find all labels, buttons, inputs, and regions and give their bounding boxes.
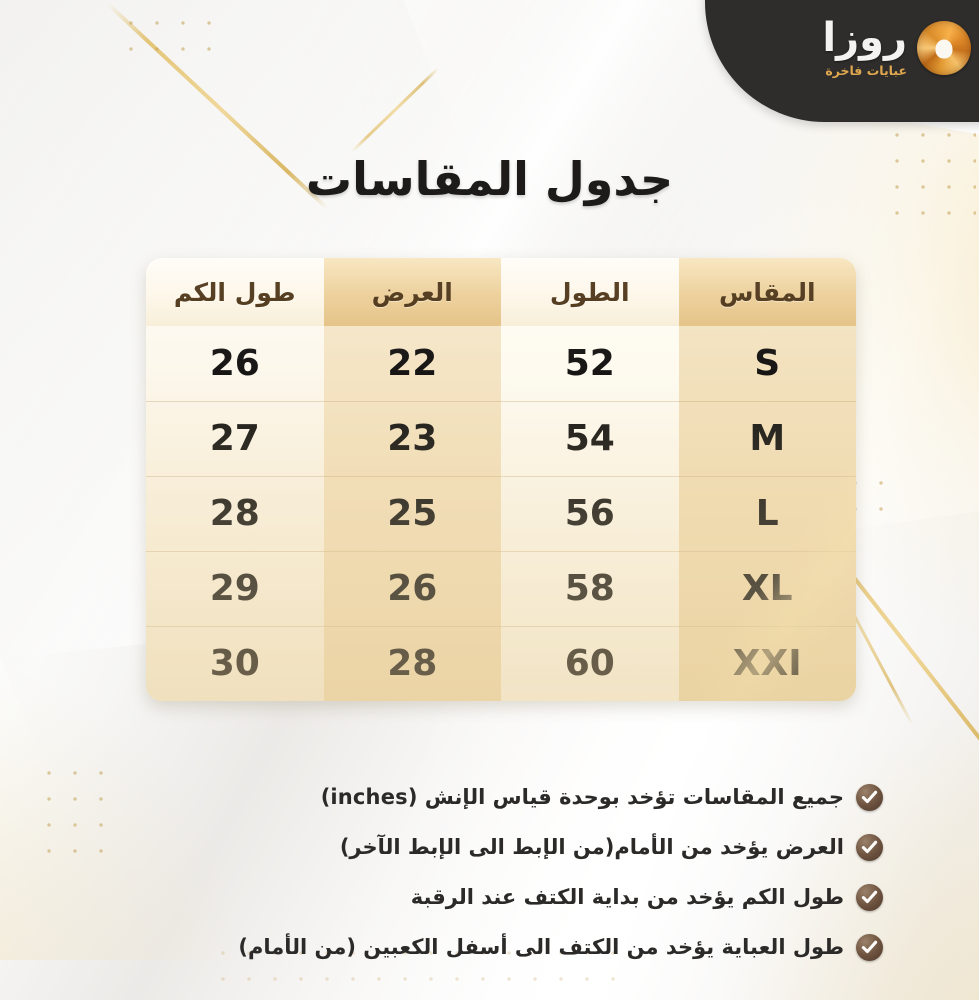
note-text: طول الكم يؤخد من بداية الكتف عند الرقبة — [411, 885, 844, 909]
column-header-sleeve: طول الكم — [146, 258, 324, 326]
cell-width: 28 — [324, 626, 502, 701]
cell-length: 56 — [501, 476, 679, 551]
cell-size: L — [679, 476, 857, 551]
cell-size: XXI — [679, 626, 857, 701]
column-header-width: العرض — [324, 258, 502, 326]
cell-length: 60 — [501, 626, 679, 701]
cell-length: 58 — [501, 551, 679, 626]
cell-sleeve: 26 — [146, 326, 324, 401]
cell-length: 54 — [501, 401, 679, 476]
cell-width: 22 — [324, 326, 502, 401]
cell-width: 26 — [324, 551, 502, 626]
table-row: M 54 23 27 — [146, 401, 856, 476]
note-item: العرض يؤخد من الأمام(من الإبط الى الإبط … — [40, 822, 883, 872]
table-row: XXI 60 28 30 — [146, 626, 856, 701]
cell-sleeve: 30 — [146, 626, 324, 701]
brand-logo: روزا عبايات فاخرة — [822, 18, 971, 78]
cell-sleeve: 29 — [146, 551, 324, 626]
dot-grid-top-left — [118, 10, 226, 72]
cell-size: XL — [679, 551, 857, 626]
cell-size: M — [679, 401, 857, 476]
cell-sleeve: 27 — [146, 401, 324, 476]
measurement-notes: جميع المقاسات تؤخد بوحدة قياس الإنش (inc… — [0, 772, 979, 972]
table-row: L 56 25 28 — [146, 476, 856, 551]
check-badge-icon — [856, 934, 883, 961]
cell-width: 25 — [324, 476, 502, 551]
table-header-row: المقاس الطول العرض طول الكم — [146, 258, 856, 326]
cell-length: 52 — [501, 326, 679, 401]
column-header-length: الطول — [501, 258, 679, 326]
brand-text: روزا عبايات فاخرة — [822, 18, 907, 78]
note-text: العرض يؤخد من الأمام(من الإبط الى الإبط … — [340, 835, 844, 859]
note-text: طول العباية يؤخد من الكتف الى أسفل الكعب… — [238, 935, 844, 959]
cell-width: 23 — [324, 401, 502, 476]
check-badge-icon — [856, 884, 883, 911]
page-title: جدول المقاسات — [0, 152, 979, 206]
table-header: المقاس الطول العرض طول الكم — [146, 258, 856, 326]
size-chart-card: المقاس الطول العرض طول الكم S 52 22 26 M… — [146, 258, 856, 701]
column-header-size: المقاس — [679, 258, 857, 326]
brand-name: روزا — [822, 18, 907, 58]
check-badge-icon — [856, 834, 883, 861]
cell-sleeve: 28 — [146, 476, 324, 551]
size-chart-table: المقاس الطول العرض طول الكم S 52 22 26 M… — [146, 258, 856, 701]
note-item: جميع المقاسات تؤخد بوحدة قياس الإنش (inc… — [40, 772, 883, 822]
table-row: XL 58 26 29 — [146, 551, 856, 626]
check-badge-icon — [856, 784, 883, 811]
brand-tagline: عبايات فاخرة — [825, 63, 907, 78]
table-body: S 52 22 26 M 54 23 27 L 56 25 28 XL 58 2… — [146, 326, 856, 701]
rose-swirl-icon — [917, 21, 971, 75]
cell-size: S — [679, 326, 857, 401]
note-item: طول الكم يؤخد من بداية الكتف عند الرقبة — [40, 872, 883, 922]
note-item: طول العباية يؤخد من الكتف الى أسفل الكعب… — [40, 922, 883, 972]
note-text: جميع المقاسات تؤخد بوحدة قياس الإنش (inc… — [321, 785, 844, 809]
table-row: S 52 22 26 — [146, 326, 856, 401]
